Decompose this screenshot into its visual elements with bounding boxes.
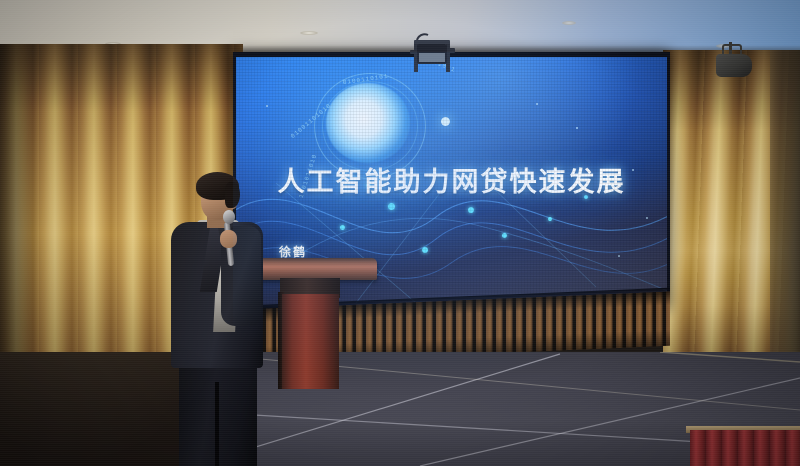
- presenter-leg-seam: [215, 382, 219, 466]
- presentation-photo-scene: 01001101010 1001011010 0100110101 010110…: [0, 0, 800, 466]
- lectern-body: [282, 294, 339, 389]
- presenter-speaking: [163, 168, 283, 466]
- ceiling-downlight-icon: [562, 21, 576, 25]
- presenter-hair-side: [225, 182, 240, 208]
- speaker-body: [716, 54, 752, 77]
- ceiling-hung-speaker: [712, 44, 754, 78]
- stage-light-fixture: [404, 26, 460, 74]
- red-stage-skirt: [690, 430, 800, 466]
- ceiling-downlight-icon: [300, 31, 318, 35]
- microphone-icon: [223, 210, 235, 224]
- speaker-stem: [729, 42, 732, 54]
- presenter-hand: [220, 230, 237, 248]
